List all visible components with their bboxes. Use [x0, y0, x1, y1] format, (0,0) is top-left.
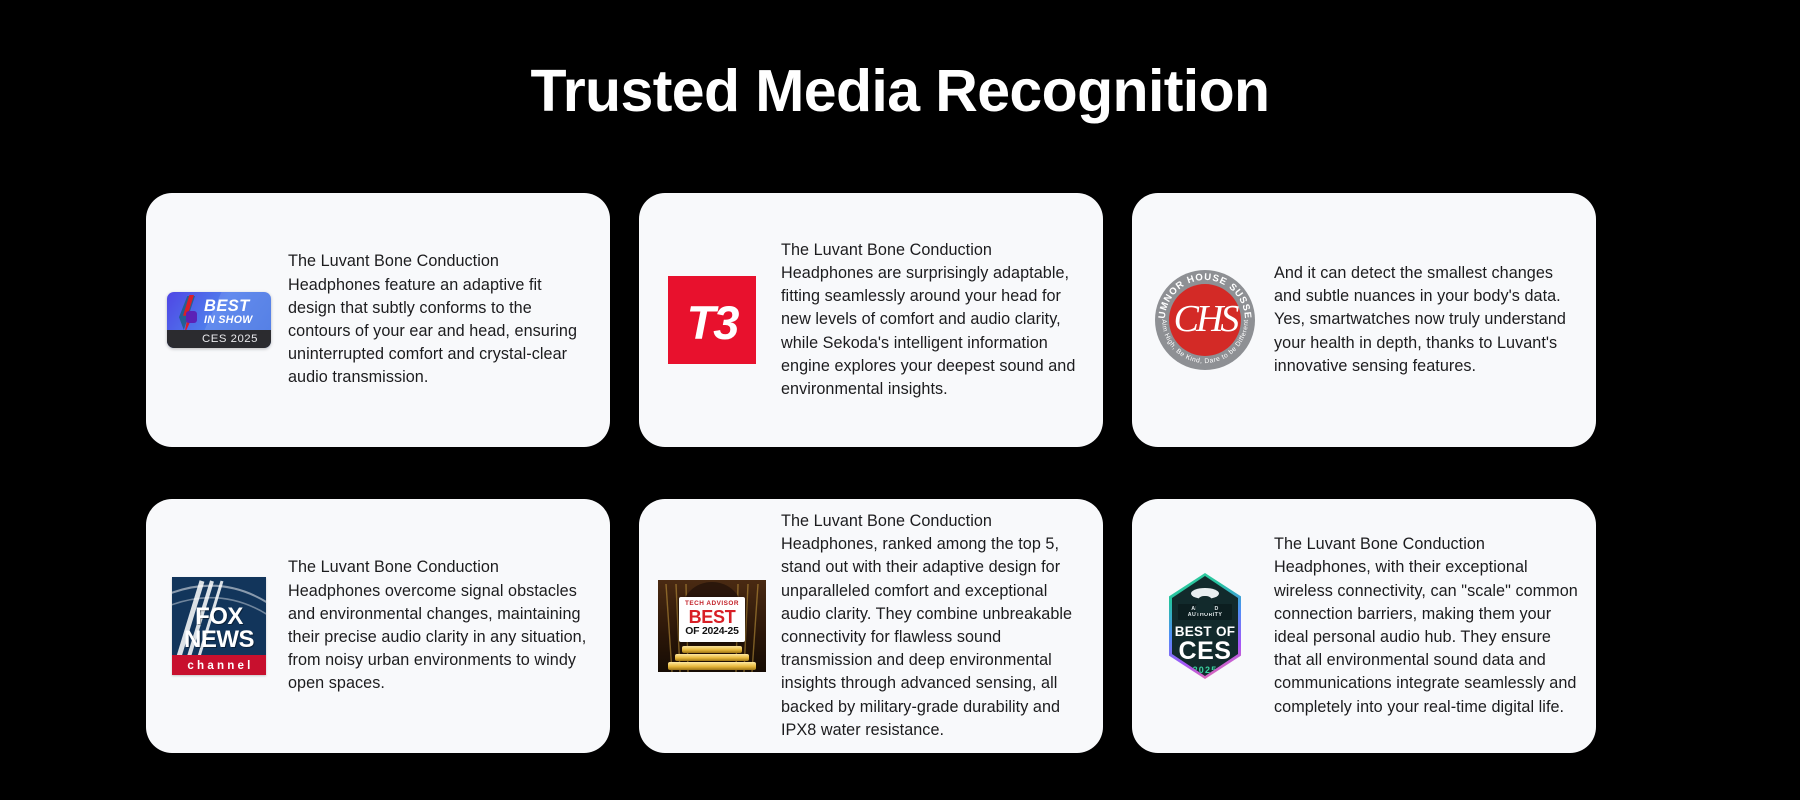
t3-wordmark: T3 — [687, 299, 738, 346]
badge-event-bar: CES 2025 — [167, 330, 271, 348]
t3-logo-icon: T3 — [668, 276, 756, 364]
recognition-card[interactable]: T3 The Luvant Bone Conduction Headphones… — [639, 193, 1103, 447]
media-recognition-page: Trusted Media Recognition BEST IN SHOW C… — [0, 0, 1800, 800]
cumnor-house-sussex-seal-icon: CHS CUMNOR HOUSE SUSSEX — [1155, 270, 1255, 370]
recognition-card[interactable]: BEST IN SHOW CES 2025 The Luvant Bone Co… — [146, 193, 610, 447]
recognition-card-grid: BEST IN SHOW CES 2025 The Luvant Bone Co… — [146, 193, 1602, 753]
badge-in-show-label: IN SHOW — [204, 314, 253, 326]
badge-event-label: CES 2025 — [180, 333, 258, 345]
svg-text:Aim High, Be Kind, Dare to be: Aim High, Be Kind, Dare to be Different — [1160, 319, 1250, 365]
card-logo-slot: TECH ADVISOR BEST OF 2024-25 — [653, 580, 771, 672]
svg-text:CUMNOR HOUSE SUSSEX: CUMNOR HOUSE SUSSEX — [1155, 270, 1253, 320]
card-quote-text: And it can detect the smallest changes a… — [1264, 262, 1580, 378]
card-logo-slot: BEST IN SHOW CES 2025 — [160, 292, 278, 348]
card-quote-text: The Luvant Bone Conduction Headphones, w… — [1264, 533, 1580, 719]
recognition-card[interactable]: FOX NEWS channel The Luvant Bone Conduct… — [146, 499, 610, 753]
fox-line-2: NEWS — [172, 628, 266, 651]
award-plaque: TECH ADVISOR BEST OF 2024-25 — [679, 597, 745, 642]
card-logo-slot: FOX NEWS channel — [160, 577, 278, 675]
card-quote-text: The Luvant Bone Conduction Headphones ov… — [278, 556, 594, 695]
card-logo-slot: ANDROID AUTHORITY BEST OF CES 2025 — [1146, 573, 1264, 679]
card-logo-slot: CHS CUMNOR HOUSE SUSSEX — [1146, 270, 1264, 370]
fox-news-wordmark: FOX NEWS — [172, 605, 266, 651]
recognition-card[interactable]: ANDROID AUTHORITY BEST OF CES 2025 The L… — [1132, 499, 1596, 753]
recognition-card[interactable]: CHS CUMNOR HOUSE SUSSEX — [1132, 193, 1596, 447]
card-quote-text: The Luvant Bone Conduction Headphones ar… — [771, 239, 1087, 401]
fox-news-channel-logo-icon: FOX NEWS channel — [172, 577, 266, 675]
fox-line-1: FOX — [172, 605, 266, 628]
badge-best-label: BEST — [204, 298, 250, 315]
page-title: Trusted Media Recognition — [0, 58, 1800, 126]
badge-year-label: 2025 — [1193, 664, 1218, 676]
tech-advisor-best-of-award-icon: TECH ADVISOR BEST OF 2024-25 — [658, 580, 766, 672]
award-period-label: OF 2024-25 — [681, 626, 743, 638]
android-robot-icon — [1191, 588, 1219, 599]
ces-best-in-show-badge-icon: BEST IN SHOW CES 2025 — [167, 292, 271, 348]
badge-event-label: CES — [1179, 639, 1232, 664]
card-quote-text: The Luvant Bone Conduction Headphones fe… — [278, 250, 594, 389]
seal-ring-text: CUMNOR HOUSE SUSSEX Aim High, Be Kind, D… — [1155, 270, 1255, 370]
card-logo-slot: T3 — [653, 276, 771, 364]
fox-channel-bar: channel — [172, 655, 266, 675]
card-quote-text: The Luvant Bone Conduction Headphones, r… — [771, 510, 1087, 742]
android-authority-best-of-ces-badge-icon: ANDROID AUTHORITY BEST OF CES 2025 — [1169, 573, 1241, 679]
award-best-label: BEST — [681, 608, 743, 626]
recognition-card[interactable]: TECH ADVISOR BEST OF 2024-25 The Luvant … — [639, 499, 1103, 753]
